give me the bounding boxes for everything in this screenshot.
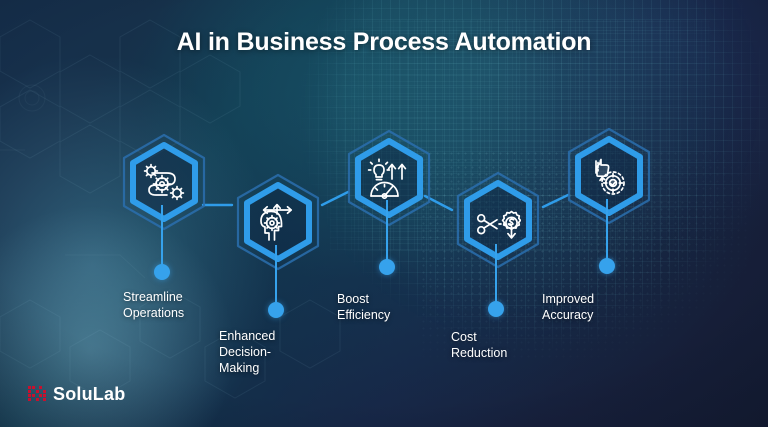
connector-stem xyxy=(275,245,277,305)
connector-dot xyxy=(154,264,170,280)
solulab-pixel-mark-icon xyxy=(28,386,46,404)
node-label: Boost Efficiency xyxy=(337,291,390,323)
connector-dot xyxy=(268,302,284,318)
lightbulb-gauge-arrows-icon xyxy=(366,157,412,199)
thumbs-up-target-dial-icon xyxy=(587,155,631,197)
infographic-canvas: AI in Business Process Automation xyxy=(0,0,768,427)
connector-stem xyxy=(606,199,608,261)
head-gear-arrows-icon xyxy=(256,202,300,242)
connector-stem xyxy=(495,244,497,304)
node-label: Enhanced Decision-Making xyxy=(219,328,275,376)
node-label: Streamline Operations xyxy=(123,289,184,321)
connector-stem xyxy=(386,200,388,262)
gears-workflow-icon xyxy=(141,162,187,202)
node-label: Improved Accuracy xyxy=(542,291,594,323)
connector-dot xyxy=(488,301,504,317)
connector-stem xyxy=(161,205,163,267)
scissors-dollar-down-arrow-icon xyxy=(475,199,521,241)
connector-dot xyxy=(379,259,395,275)
logo-text: SoluLab xyxy=(53,384,125,405)
connector-dot xyxy=(599,258,615,274)
brand-logo[interactable]: SoluLab xyxy=(28,384,125,405)
node-label: Cost Reduction xyxy=(451,329,507,361)
